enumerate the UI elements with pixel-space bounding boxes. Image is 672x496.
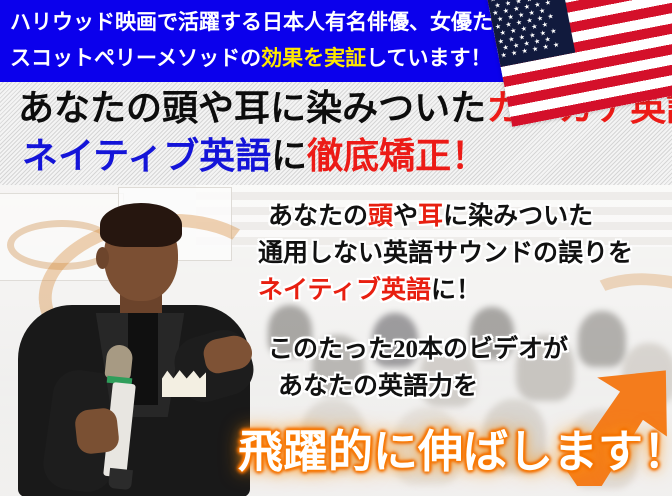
speaker-ear	[96, 247, 109, 269]
copy-text: に！	[431, 277, 481, 304]
banner-highlight: 効果を実証	[261, 47, 366, 70]
headline-bouten-head: 頭	[162, 84, 198, 132]
landing-page-hero: あなたの頭や耳に染みついた 通用しない英語サウンドの誤りを ネイティブ英語に！ …	[0, 0, 672, 496]
copy-spacer	[258, 309, 672, 331]
headline-line-2: ネイティブ英語に徹底矯正！	[0, 132, 672, 180]
flag-canton: ★ ★ ★ ★ ★ ★★ ★ ★ ★ ★★ ★ ★ ★ ★ ★★ ★ ★ ★ ★…	[487, 0, 575, 67]
copy-emphasis-native: ネイティブ英語	[258, 277, 431, 304]
headline-emphasis-native: ネイティブ英語	[22, 136, 271, 176]
microphone-base	[108, 468, 133, 490]
microphone-head	[104, 344, 133, 381]
headline-text: や	[198, 88, 234, 128]
copy-line-3: ネイティブ英語に！	[258, 272, 672, 309]
speaker-figure	[8, 201, 258, 496]
copy-marker-highlight: 英語力	[378, 368, 453, 405]
banner-text-pre: スコットペリーメソッドの	[10, 47, 261, 70]
banner-text-post: しています！	[366, 47, 491, 70]
copy-line-2: 通用しない英語サウンドの誤りを	[258, 235, 672, 272]
copy-text: や	[393, 203, 418, 230]
speaker-hair	[100, 203, 182, 247]
headline-emphasis-correct: 徹底矯正！	[307, 136, 487, 176]
speaker-mic-hand	[74, 407, 120, 455]
body-copy-block: あなたの頭や耳に染みついた 通用しない英語サウンドの誤りを ネイティブ英語に！ …	[258, 198, 672, 405]
copy-emphasis-head: 頭	[368, 203, 393, 230]
headline-bouten-ear: 耳	[234, 84, 270, 132]
copy-line-5: あなたの英語力を	[258, 368, 672, 405]
headline-text: に染みついた	[270, 88, 486, 128]
copy-line-1: あなたの頭や耳に染みついた	[258, 198, 672, 235]
copy-text: を	[453, 373, 478, 400]
copy-emphasis-ear: 耳	[418, 203, 443, 230]
copy-text: に染みついた	[443, 203, 593, 230]
headline-text: に	[271, 136, 307, 176]
finale-headline: 飛躍的に伸ばします！	[238, 424, 668, 480]
copy-text: あなたの	[278, 373, 378, 400]
headline-text: あなたの	[18, 88, 162, 128]
copy-line-4: このたった20本のビデオが	[258, 331, 672, 368]
copy-text: あなたの	[268, 203, 368, 230]
